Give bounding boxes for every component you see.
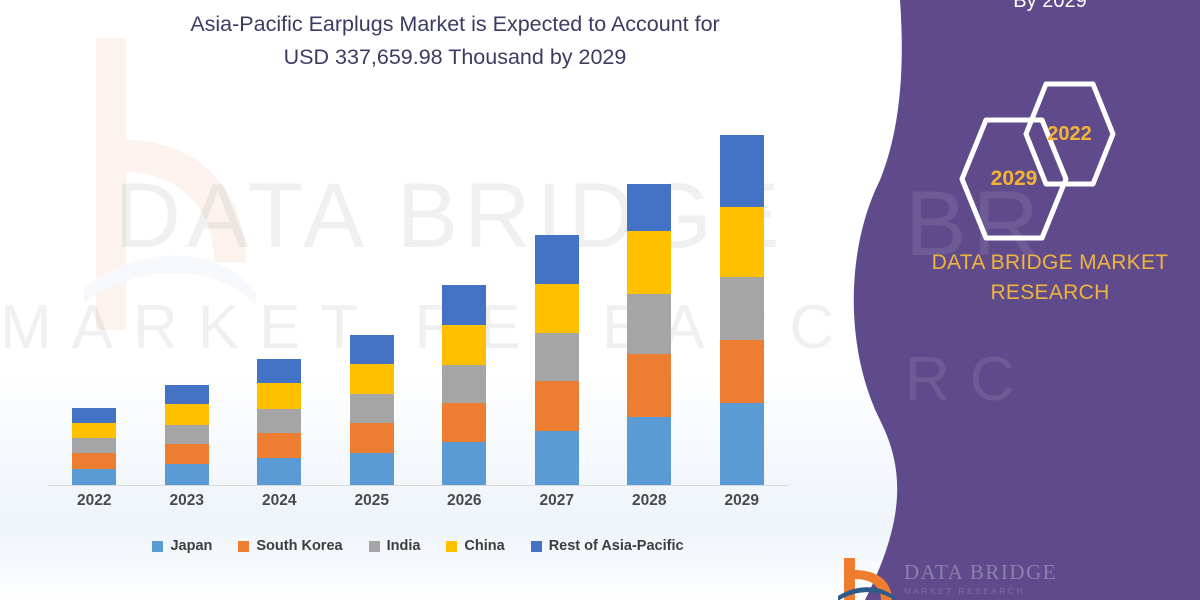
bar-column — [512, 120, 602, 485]
x-axis-tick-label: 2022 — [49, 492, 139, 510]
infographic-root: DATA BRIDGE MARKET RESEARCH Asia-Pacific… — [0, 0, 1200, 600]
stacked-bar[interactable] — [720, 135, 764, 485]
bar-segment[interactable] — [720, 135, 764, 207]
x-axis-tick-label: 2023 — [142, 492, 232, 510]
bar-column — [419, 120, 509, 485]
x-axis-tick-label: 2026 — [419, 492, 509, 510]
brand-name: DATA BRIDGE MARKET RESEARCH — [900, 248, 1200, 309]
bar-segment[interactable] — [257, 383, 301, 409]
hexagon-2022-label: 2022 — [1047, 123, 1092, 146]
bar-segment[interactable] — [350, 423, 394, 453]
legend-swatch — [531, 541, 542, 552]
bar-segment[interactable] — [442, 285, 486, 325]
legend-label: China — [464, 538, 504, 554]
bar-column — [49, 120, 139, 485]
bar-segment[interactable] — [535, 381, 579, 431]
right-panel-title: By 2029 — [890, 0, 1200, 16]
page-title: Asia-Pacific Earplugs Market is Expected… — [60, 8, 850, 75]
bar-segment[interactable] — [350, 364, 394, 394]
bar-segment[interactable] — [257, 409, 301, 433]
bar-segment[interactable] — [535, 431, 579, 485]
right-panel-content: By 2029 2029 2022 DATA BRIDGE MARKET RES… — [900, 0, 1200, 600]
bar-segment[interactable] — [257, 359, 301, 383]
bar-column — [697, 120, 787, 485]
x-axis-tick-label: 2025 — [327, 492, 417, 510]
chart-legend: JapanSouth KoreaIndiaChinaRest of Asia-P… — [48, 538, 788, 554]
bar-segment[interactable] — [627, 294, 671, 354]
bridge-logo-icon — [838, 556, 898, 600]
bar-segment[interactable] — [720, 340, 764, 403]
bar-segment[interactable] — [442, 442, 486, 485]
bar-segment[interactable] — [535, 284, 579, 333]
bar-segment[interactable] — [165, 425, 209, 444]
bar-segment[interactable] — [442, 365, 486, 403]
bar-column — [234, 120, 324, 485]
legend-swatch — [152, 541, 163, 552]
stacked-bar[interactable] — [627, 184, 671, 485]
x-axis-tick-label: 2028 — [604, 492, 694, 510]
legend-item[interactable]: China — [446, 538, 504, 554]
legend-item[interactable]: Japan — [152, 538, 212, 554]
footer-logo: DATA BRIDGE MARKET RESEARCH — [838, 556, 1138, 600]
x-axis-line — [48, 485, 788, 486]
stacked-bar[interactable] — [165, 385, 209, 485]
hexagon-2029-label: 2029 — [991, 167, 1038, 191]
bar-segment[interactable] — [72, 469, 116, 485]
bar-segment[interactable] — [72, 438, 116, 453]
legend-swatch — [446, 541, 457, 552]
x-axis-tick-label: 2029 — [697, 492, 787, 510]
bar-segment[interactable] — [627, 417, 671, 485]
bar-column — [604, 120, 694, 485]
title-line-2: USD 337,659.98 Thousand by 2029 — [60, 41, 850, 74]
legend-item[interactable]: South Korea — [238, 538, 342, 554]
bar-segment[interactable] — [627, 354, 671, 417]
bar-segment[interactable] — [535, 333, 579, 381]
stacked-bar[interactable] — [350, 335, 394, 485]
bar-segment[interactable] — [72, 408, 116, 423]
bar-group — [48, 120, 788, 485]
x-axis-tick-label: 2024 — [234, 492, 324, 510]
chart-panel: DATA BRIDGE MARKET RESEARCH Asia-Pacific… — [0, 0, 900, 600]
brand-line-2: RESEARCH — [900, 278, 1200, 308]
legend-label: India — [387, 538, 421, 554]
bar-segment[interactable] — [535, 235, 579, 284]
bar-segment[interactable] — [720, 403, 764, 485]
legend-item[interactable]: India — [369, 538, 421, 554]
stacked-bar[interactable] — [535, 235, 579, 485]
bar-segment[interactable] — [442, 403, 486, 442]
x-axis-tick-label: 2027 — [512, 492, 602, 510]
bar-segment[interactable] — [72, 423, 116, 438]
bar-segment[interactable] — [720, 207, 764, 277]
bar-segment[interactable] — [257, 458, 301, 485]
bar-segment[interactable] — [720, 277, 764, 340]
bar-segment[interactable] — [165, 444, 209, 464]
footer-logo-name: DATA BRIDGE — [904, 560, 1057, 585]
legend-label: Rest of Asia-Pacific — [549, 538, 684, 554]
bar-column — [327, 120, 417, 485]
x-axis-labels: 20222023202420252026202720282029 — [48, 492, 788, 510]
legend-swatch — [369, 541, 380, 552]
stacked-bar[interactable] — [72, 408, 116, 485]
bar-segment[interactable] — [627, 184, 671, 231]
hexagon-group: 2029 2022 — [930, 80, 1180, 210]
stacked-bar[interactable] — [442, 285, 486, 485]
bar-segment[interactable] — [442, 325, 486, 365]
bar-segment[interactable] — [350, 335, 394, 364]
footer-logo-tagline: MARKET RESEARCH — [904, 586, 1025, 596]
legend-label: Japan — [170, 538, 212, 554]
legend-label: South Korea — [256, 538, 342, 554]
bar-segment[interactable] — [350, 394, 394, 423]
bar-segment[interactable] — [72, 453, 116, 469]
legend-item[interactable]: Rest of Asia-Pacific — [531, 538, 684, 554]
bar-segment[interactable] — [165, 464, 209, 485]
bar-segment[interactable] — [165, 404, 209, 425]
legend-swatch — [238, 541, 249, 552]
brand-line-1: DATA BRIDGE MARKET — [900, 248, 1200, 278]
bar-column — [142, 120, 232, 485]
bar-segment[interactable] — [257, 433, 301, 458]
stacked-bar-chart — [48, 120, 788, 486]
title-line-1: Asia-Pacific Earplugs Market is Expected… — [60, 8, 850, 41]
bar-segment[interactable] — [165, 385, 209, 404]
bar-segment[interactable] — [350, 453, 394, 485]
stacked-bar[interactable] — [257, 359, 301, 485]
bar-segment[interactable] — [627, 231, 671, 294]
